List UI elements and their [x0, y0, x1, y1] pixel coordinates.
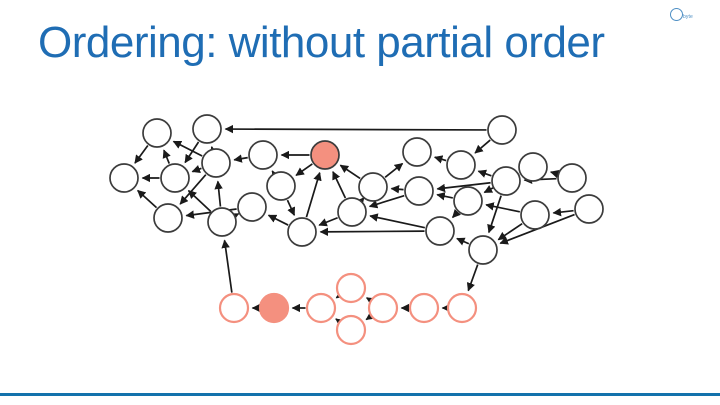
graph-edge [385, 164, 402, 178]
graph-edge [234, 158, 247, 160]
graph-node-n3[interactable] [110, 164, 138, 192]
graph-edge [164, 150, 169, 163]
graph-node-n18[interactable] [447, 151, 475, 179]
graph-node-n4[interactable] [161, 164, 189, 192]
graph-edge [218, 181, 221, 206]
graph-node-n8[interactable] [208, 208, 236, 236]
graph-node-n15[interactable] [403, 138, 431, 166]
graph-edge [551, 172, 557, 174]
graph-node-n22[interactable] [492, 167, 520, 195]
graph-node-c7[interactable] [410, 294, 438, 322]
graph-node-n10[interactable] [267, 172, 295, 200]
graph-edge [366, 317, 370, 320]
graph-edge [435, 157, 446, 160]
graph-edge [189, 191, 211, 212]
graph-node-n20[interactable] [469, 236, 497, 264]
graph-node-c5[interactable] [337, 316, 365, 344]
graph-node-n24[interactable] [521, 201, 549, 229]
graph-edge [336, 297, 338, 298]
graph-node-n26[interactable] [575, 195, 603, 223]
graph-edge [225, 129, 486, 130]
graph-edge [296, 164, 312, 175]
graph-edge [287, 200, 294, 215]
graph-edge [553, 211, 573, 213]
graph-edge [391, 189, 403, 190]
graph-node-n11[interactable] [288, 218, 316, 246]
graph-node-n16[interactable] [405, 177, 433, 205]
graph-node-n17[interactable] [426, 217, 454, 245]
graph-edge [225, 240, 232, 292]
graph-node-layer [110, 115, 603, 344]
graph-edge [468, 265, 477, 291]
graph-edge [370, 216, 425, 228]
graph-edge [269, 215, 289, 225]
graph-node-n25[interactable] [558, 164, 586, 192]
graph-node-n14[interactable] [359, 173, 387, 201]
graph-node-n6[interactable] [249, 141, 277, 169]
graph-node-c8[interactable] [448, 294, 476, 322]
graph-edge [453, 212, 458, 217]
page-title: Ordering: without partial order [38, 18, 605, 69]
graph-node-n1[interactable] [143, 119, 171, 147]
circle-outline-icon [670, 8, 683, 21]
graph-node-n9[interactable] [238, 193, 266, 221]
footer-divider [0, 393, 720, 396]
graph-edge [478, 171, 491, 176]
graph-edge [336, 319, 339, 321]
graph-node-n2[interactable] [193, 115, 221, 143]
graph-node-c1[interactable] [220, 294, 248, 322]
graph-edge [475, 140, 490, 153]
graph-node-n21[interactable] [488, 116, 516, 144]
graph-node-n12[interactable] [311, 141, 339, 169]
slide-canvas: Ordering: without partial order byte [0, 0, 720, 405]
graph-edge [340, 165, 360, 178]
graph-edge [138, 190, 157, 207]
graph-edge [306, 173, 319, 217]
graph-node-c4[interactable] [337, 274, 365, 302]
graph-node-c6[interactable] [369, 294, 397, 322]
graph-edge [489, 196, 501, 233]
graph-node-n7[interactable] [154, 204, 182, 232]
graph-edge [367, 298, 370, 300]
graph-edge [320, 231, 424, 232]
graph-edge [498, 224, 522, 240]
graph-node-n23[interactable] [519, 153, 547, 181]
brand-logo: byte [666, 4, 712, 30]
graph-edge [457, 238, 469, 243]
logo-wordmark: byte [683, 14, 693, 20]
graph-node-c3[interactable] [307, 294, 335, 322]
graph-node-n5[interactable] [202, 149, 230, 177]
graph-edge [437, 195, 453, 198]
graph-node-n13[interactable] [338, 198, 366, 226]
graph-edge [192, 168, 201, 171]
graph-edge [319, 218, 337, 225]
graph-edge [135, 145, 148, 163]
graph-edge [486, 205, 520, 212]
graph-edge [272, 171, 273, 173]
graph-edge [333, 172, 345, 198]
graph-node-c2[interactable] [260, 294, 288, 322]
graph-node-n19[interactable] [454, 187, 482, 215]
directed-graph-diagram [0, 95, 720, 360]
